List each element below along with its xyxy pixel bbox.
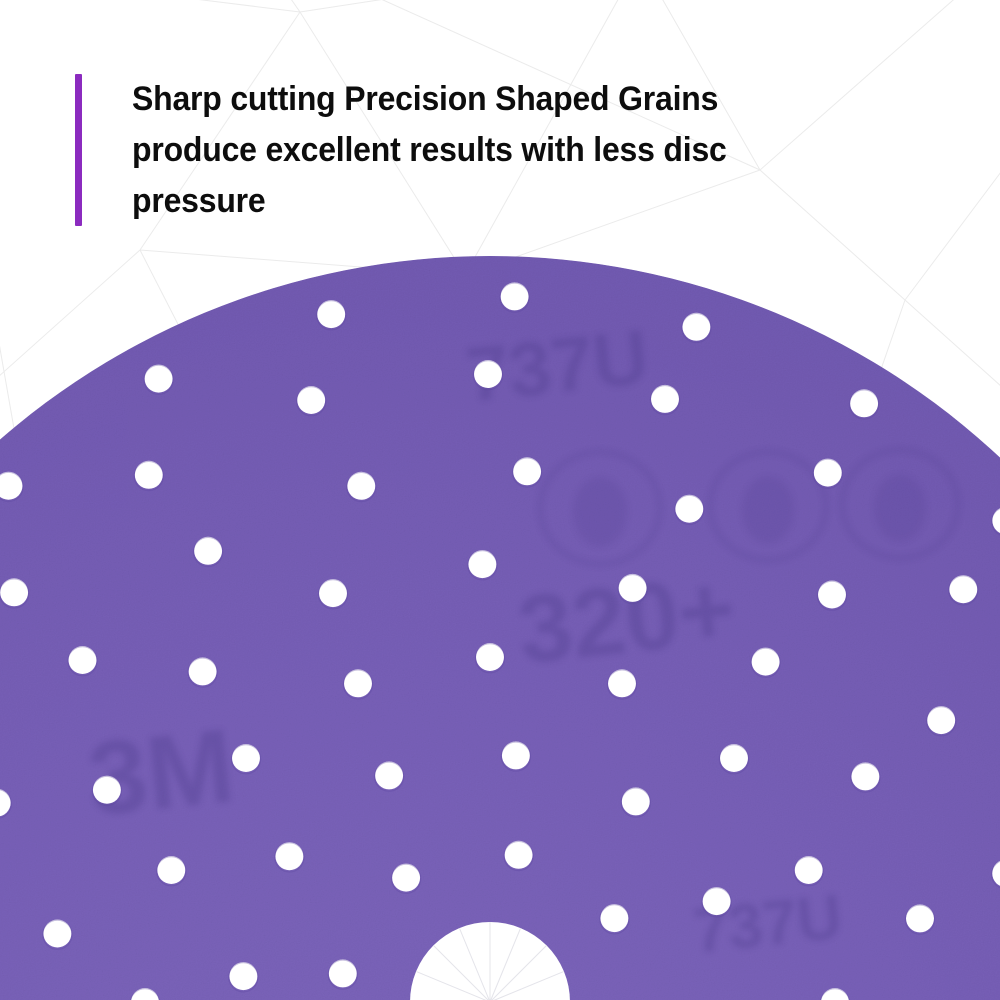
embossed-logo-glyph: [573, 477, 627, 546]
embossed-marking-320+: 320+: [513, 555, 739, 684]
accent-bar: [75, 74, 82, 226]
product-feature-panel: 737U320+3M737U Sharp cutting Precision S…: [0, 0, 1000, 1000]
embossed-logo-glyph: [742, 477, 794, 544]
embossed-logo-glyph: [874, 475, 926, 542]
headline-block: Sharp cutting Precision Shaped Grains pr…: [75, 74, 875, 227]
embossed-marking-3m: 3M: [83, 708, 239, 838]
page-title: Sharp cutting Precision Shaped Grains pr…: [132, 74, 830, 227]
